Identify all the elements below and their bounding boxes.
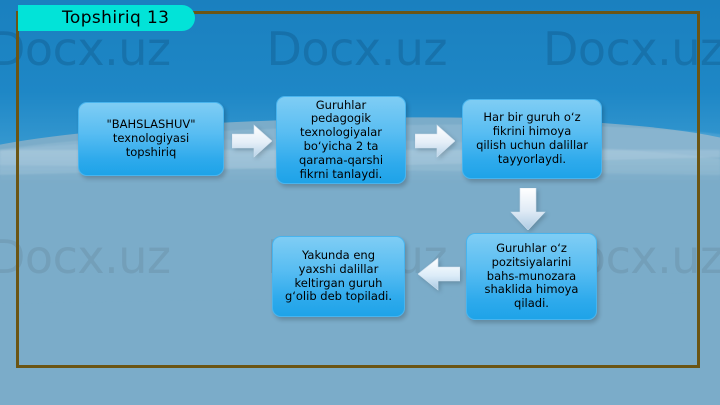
process-step-label: Guruhlar pedagogik texnologiyalar bo‘yic… — [299, 99, 383, 182]
process-step-box-2[interactable]: Guruhlar pedagogik texnologiyalar bo‘yic… — [276, 96, 406, 184]
process-step-label: Har bir guruh o‘z fikrini himoya qilish … — [476, 111, 588, 166]
process-step-label: Yakunda eng yaxshi dalillar keltirgan gu… — [285, 249, 392, 304]
slide-title-banner: Topshiriq 13 — [18, 5, 195, 31]
page-title: Topshiriq 13 — [62, 8, 169, 28]
arrow-right-icon — [415, 124, 455, 158]
arrow-left-icon — [418, 256, 460, 292]
process-step-box-3[interactable]: Har bir guruh o‘z fikrini himoya qilish … — [462, 99, 602, 179]
process-step-label: "BAHSLASHUV" texnologiyasi topshiriq — [106, 118, 195, 159]
process-step-box-5[interactable]: Yakunda eng yaxshi dalillar keltirgan gu… — [272, 236, 405, 317]
process-step-box-4[interactable]: Guruhlar o‘z pozitsiyalarini bahs-munoza… — [466, 233, 597, 320]
presentation-slide: Docx.uz Docx.uz Docx.uz Docx.uz Docx.uz … — [0, 0, 720, 405]
process-step-label: Guruhlar o‘z pozitsiyalarini bahs-munoza… — [485, 242, 579, 311]
arrow-right-icon — [232, 124, 272, 158]
arrow-down-icon — [510, 188, 546, 230]
process-step-box-1[interactable]: "BAHSLASHUV" texnologiyasi topshiriq — [78, 102, 224, 176]
